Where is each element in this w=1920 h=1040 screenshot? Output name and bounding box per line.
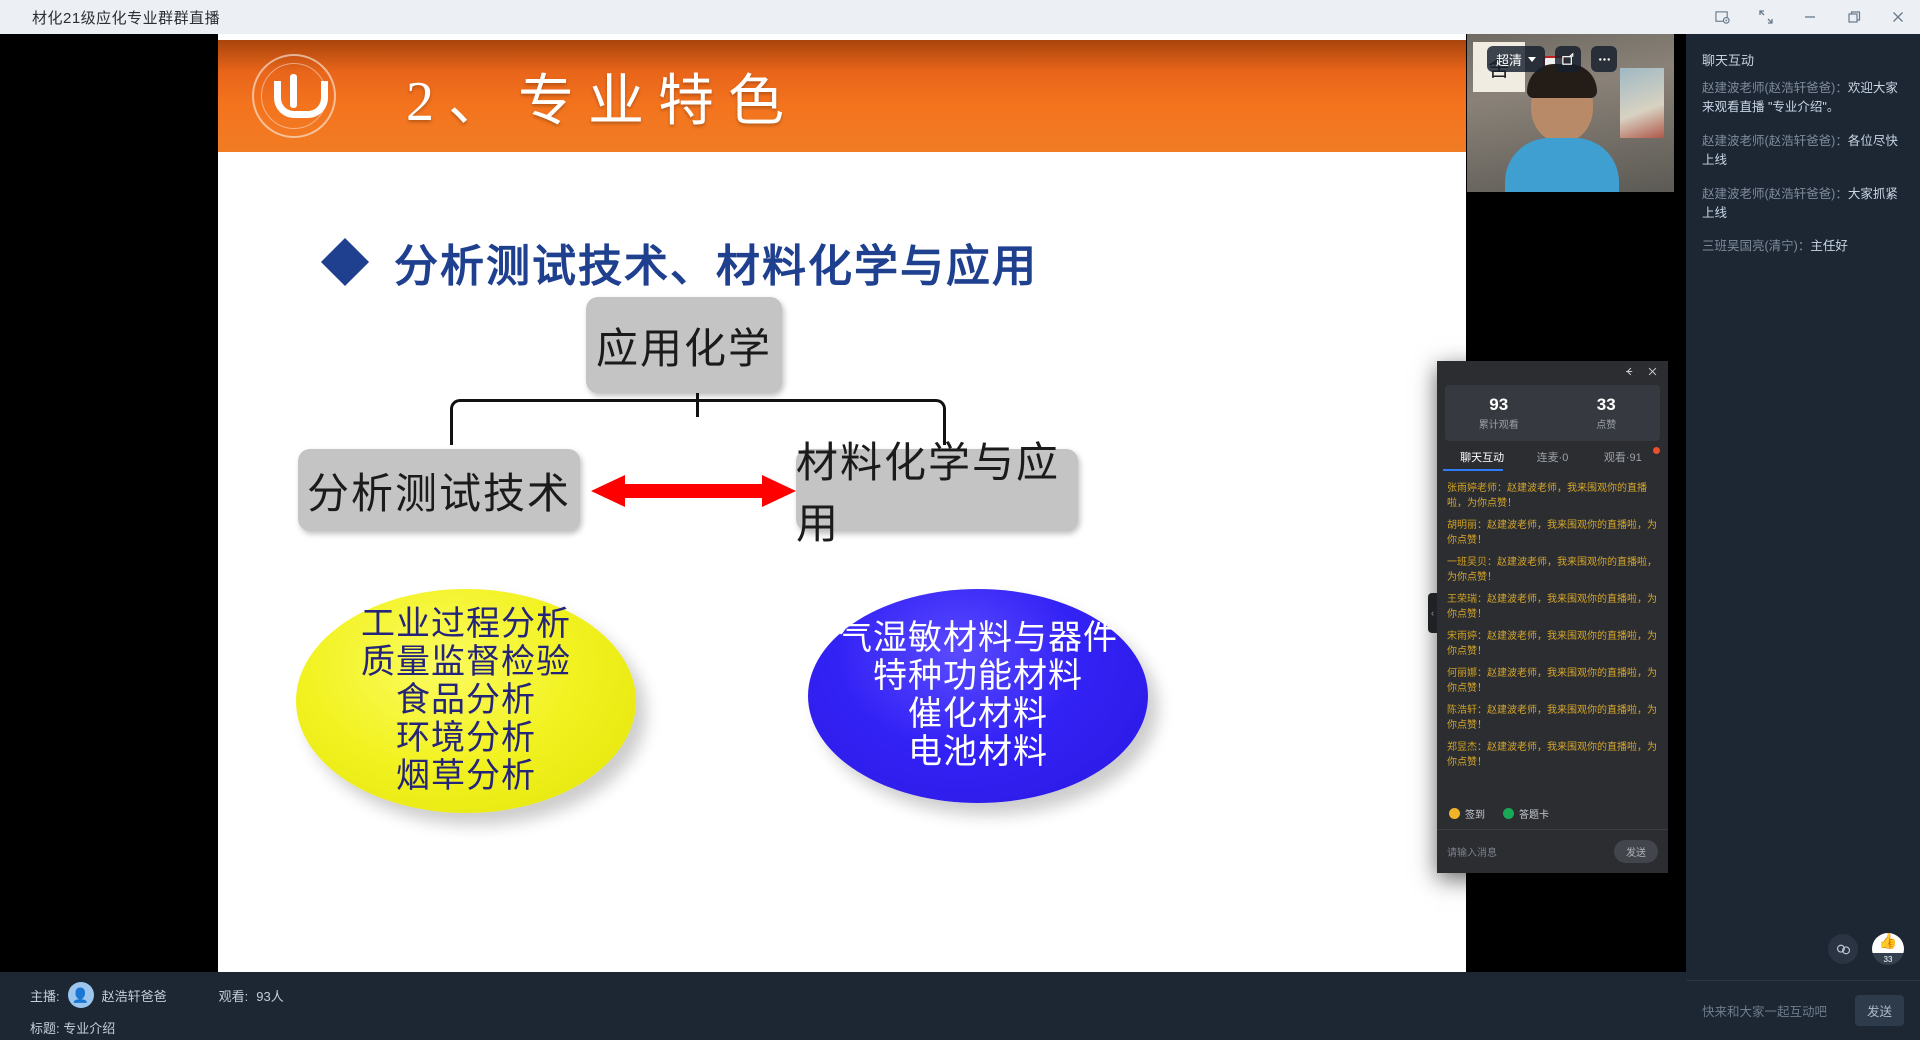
chat-message: 宋雨婷：赵建波老师，我来围观你的直播啦，为你点赞！ bbox=[1447, 629, 1658, 659]
stat-value: 33 bbox=[1553, 395, 1661, 415]
stat-total-views: 93 累计观看 bbox=[1445, 395, 1553, 432]
stream-info-bar: 主播: 👤 赵浩轩爸爸 观看: 93人 标题: 专业介绍 bbox=[0, 972, 1686, 1040]
slide-header-band: 2、专业特色 bbox=[218, 40, 1466, 152]
more-options-icon[interactable] bbox=[1591, 46, 1617, 72]
sidebar-message: 赵建波老师(赵浩轩爸爸)：大家抓紧上线 bbox=[1702, 185, 1904, 224]
sidebar-bottom: 👍 33 快来和大家一起互动吧 发送 bbox=[1686, 918, 1920, 1040]
ellipse-right-item: 催化材料 bbox=[908, 696, 1048, 734]
university-emblem-icon bbox=[252, 54, 336, 138]
sidebar-author: 赵建波老师(赵浩轩爸爸)： bbox=[1702, 134, 1848, 148]
chat-author: 一班吴贝： bbox=[1447, 557, 1497, 568]
maximize-icon[interactable] bbox=[1832, 0, 1876, 34]
viewers-label: 观看: bbox=[219, 986, 249, 1005]
video-controls: 超清 bbox=[1487, 46, 1617, 72]
diagram-bracket-stem bbox=[696, 393, 699, 417]
ellipse-right-item: 特种功能材料 bbox=[873, 658, 1083, 696]
chevron-down-icon bbox=[1528, 57, 1536, 62]
chat-author: 郑昱杰： bbox=[1447, 742, 1487, 753]
ellipse-left-item: 烟草分析 bbox=[396, 758, 536, 796]
host-row: 主播: 👤 赵浩轩爸爸 观看: 93人 bbox=[30, 982, 1686, 1008]
floating-panel-tabs: 聊天互动 连麦·0 观看·91 bbox=[1447, 449, 1658, 471]
diagram-ellipse-left: 工业过程分析 质量监督检验 食品分析 环境分析 烟草分析 bbox=[296, 589, 636, 813]
topic-value: 专业介绍 bbox=[63, 1021, 115, 1036]
host-label: 主播: bbox=[30, 986, 60, 1005]
slide-title: 2、专业特色 bbox=[406, 56, 798, 137]
chat-message: 胡明丽：赵建波老师，我来围观你的直播啦，为你点赞！ bbox=[1447, 518, 1658, 548]
chat-message: 王荣瑞：赵建波老师，我来围观你的直播啦，为你点赞！ bbox=[1447, 592, 1658, 622]
ellipse-left-item: 食品分析 bbox=[396, 682, 536, 720]
notification-dot-icon bbox=[1653, 447, 1660, 454]
minimize-icon[interactable] bbox=[1788, 0, 1832, 34]
close-icon[interactable] bbox=[1876, 0, 1920, 34]
chat-message: 一班吴贝：赵建波老师，我来围观你的直播啦，为你点赞！ bbox=[1447, 555, 1658, 585]
ellipse-right-item: 气湿敏材料与器件 bbox=[838, 620, 1118, 658]
quizcard-label: 答题卡 bbox=[1519, 806, 1549, 821]
topic-label: 标题: bbox=[30, 1021, 60, 1036]
stat-caption: 累计观看 bbox=[1445, 416, 1553, 431]
checkin-label: 签到 bbox=[1465, 806, 1485, 821]
chat-author: 王荣瑞： bbox=[1447, 594, 1487, 605]
close-icon[interactable] bbox=[1647, 366, 1658, 379]
stream-stage: 2、专业特色 分析测试技术、材料化学与应用 应用化学 分析测试技术 材料化学与应… bbox=[0, 34, 1686, 972]
restore-size-icon[interactable] bbox=[1744, 0, 1788, 34]
tab-viewers-label: 观看·91 bbox=[1604, 452, 1642, 464]
sidebar-author: 赵建波老师(赵浩轩爸爸)： bbox=[1702, 81, 1848, 95]
sidebar-tools: 👍 33 bbox=[1686, 918, 1920, 980]
wall-picture bbox=[1620, 68, 1664, 138]
sidebar-message: 三班吴国亮(清宁)：主任好 bbox=[1702, 237, 1904, 256]
quality-selector[interactable]: 超清 bbox=[1487, 46, 1545, 72]
chat-author: 胡明丽： bbox=[1447, 520, 1487, 531]
floating-panel-header bbox=[1437, 361, 1668, 383]
chat-author: 何丽娜： bbox=[1447, 668, 1487, 679]
floating-panel-actions: 签到 答题卡 bbox=[1449, 806, 1549, 821]
diagram-node-left: 分析测试技术 bbox=[298, 449, 580, 531]
sidebar-chat-input[interactable]: 快来和大家一起互动吧 bbox=[1702, 1001, 1827, 1020]
sidebar-title: 聊天互动 bbox=[1686, 34, 1920, 69]
checkin-button[interactable]: 签到 bbox=[1449, 806, 1485, 821]
viewers-value: 93人 bbox=[256, 986, 283, 1005]
ellipse-left-item: 环境分析 bbox=[396, 720, 536, 758]
like-count: 33 bbox=[1872, 955, 1904, 964]
floating-chat-panel[interactable]: ‹ 93 累计观看 33 点赞 聊天互动 bbox=[1437, 361, 1668, 873]
diagram-node-right: 材料化学与应用 bbox=[796, 449, 1078, 531]
floating-chat-input-bar[interactable]: 请输入消息 发送 bbox=[1437, 829, 1668, 873]
thumbs-up-icon: 👍 bbox=[1879, 934, 1898, 949]
chat-message: 何丽娜：赵建波老师，我来围观你的直播啦，为你点赞！ bbox=[1447, 666, 1658, 696]
chat-message: 郑昱杰：赵建波老师，我来围观你的直播啦，为你点赞！ bbox=[1447, 740, 1658, 770]
chat-message: 张雨婷老师：赵建波老师，我来围观你的直播啦，为你点赞！ bbox=[1447, 481, 1658, 511]
host-avatar-figure bbox=[1503, 64, 1621, 192]
quizcard-icon bbox=[1503, 808, 1514, 819]
stat-likes: 33 点赞 bbox=[1553, 395, 1661, 432]
sidebar-send-button[interactable]: 发送 bbox=[1855, 995, 1904, 1026]
stat-caption: 点赞 bbox=[1553, 416, 1661, 431]
host-name: 赵浩轩爸爸 bbox=[102, 986, 167, 1005]
tab-viewers[interactable]: 观看·91 bbox=[1588, 449, 1658, 471]
tab-mic[interactable]: 连麦·0 bbox=[1517, 449, 1587, 471]
sidebar-author: 三班吴国亮(清宁)： bbox=[1702, 239, 1810, 253]
floating-chat-input[interactable]: 请输入消息 bbox=[1447, 844, 1497, 859]
diagram-ellipse-right: 气湿敏材料与器件 特种功能材料 催化材料 电池材料 bbox=[808, 589, 1148, 803]
sidebar-body: 主任好 bbox=[1810, 239, 1848, 253]
window-title-bar: 材化21级应化专业群群直播 bbox=[0, 0, 1920, 34]
presentation-slide[interactable]: 2、专业特色 分析测试技术、材料化学与应用 应用化学 分析测试技术 材料化学与应… bbox=[218, 34, 1466, 972]
sidebar-input-bar[interactable]: 快来和大家一起互动吧 发送 bbox=[1686, 980, 1920, 1040]
chat-message: 陈浩轩：赵建波老师，我来围观你的直播啦，为你点赞！ bbox=[1447, 703, 1658, 733]
picture-in-picture-icon[interactable] bbox=[1555, 46, 1581, 72]
live-stream-app: 材化21级应化专业群群直播 bbox=[0, 0, 1920, 1040]
stream-stats: 93 累计观看 33 点赞 bbox=[1445, 385, 1660, 441]
quality-label: 超清 bbox=[1496, 50, 1522, 69]
slide-bullet-heading: 分析测试技术、材料化学与应用 bbox=[394, 230, 1038, 294]
chat-author: 张雨婷老师： bbox=[1447, 483, 1507, 494]
window-title: 材化21级应化专业群群直播 bbox=[32, 7, 220, 28]
sidebar-author: 赵建波老师(赵浩轩爸爸)： bbox=[1702, 187, 1848, 201]
ellipse-left-item: 质量监督检验 bbox=[361, 644, 571, 682]
ellipse-left-item: 工业过程分析 bbox=[361, 606, 571, 644]
window-controls bbox=[1700, 0, 1920, 34]
like-button[interactable]: 👍 33 bbox=[1872, 933, 1904, 965]
sidebar-message: 赵建波老师(赵浩轩爸爸)：各位尽快上线 bbox=[1702, 132, 1904, 171]
ellipse-right-item: 电池材料 bbox=[908, 734, 1048, 772]
slide-bullet-row: 分析测试技术、材料化学与应用 bbox=[328, 230, 1038, 294]
diagram-node-root: 应用化学 bbox=[586, 297, 782, 393]
floating-send-button[interactable]: 发送 bbox=[1614, 840, 1658, 863]
diamond-bullet-icon bbox=[321, 238, 369, 286]
stat-value: 93 bbox=[1445, 395, 1553, 415]
sidebar-message-list[interactable]: 赵建波老师(赵浩轩爸爸)：欢迎大家来观看直播 "专业介绍"。 赵建波老师(赵浩轩… bbox=[1686, 69, 1920, 257]
avatar: 👤 bbox=[68, 982, 94, 1008]
floating-chat-messages[interactable]: 张雨婷老师：赵建波老师，我来围观你的直播啦，为你点赞！ 胡明丽：赵建波老师，我来… bbox=[1447, 481, 1658, 781]
chat-sidebar: 聊天互动 赵建波老师(赵浩轩爸爸)：欢迎大家来观看直播 "专业介绍"。 赵建波老… bbox=[1686, 34, 1920, 1040]
quizcard-button[interactable]: 答题卡 bbox=[1503, 806, 1549, 821]
topic-row: 标题: 专业介绍 bbox=[30, 1018, 1686, 1037]
double-arrow-icon bbox=[591, 471, 796, 511]
emoji-icon[interactable] bbox=[1828, 934, 1858, 964]
checkin-icon bbox=[1449, 808, 1460, 819]
minimize-icon[interactable] bbox=[1624, 366, 1635, 379]
tab-chat[interactable]: 聊天互动 bbox=[1447, 449, 1517, 471]
sidebar-message: 赵建波老师(赵浩轩爸爸)：欢迎大家来观看直播 "专业介绍"。 bbox=[1702, 79, 1904, 118]
notes-icon[interactable] bbox=[1700, 0, 1744, 34]
panel-collapse-handle[interactable]: ‹ bbox=[1428, 593, 1437, 633]
slide-diagram: 应用化学 分析测试技术 材料化学与应用 工业过程分析 质量监督检验 食品分析 环… bbox=[218, 289, 1466, 849]
chat-author: 宋雨婷： bbox=[1447, 631, 1487, 642]
chat-author: 陈浩轩： bbox=[1447, 705, 1487, 716]
